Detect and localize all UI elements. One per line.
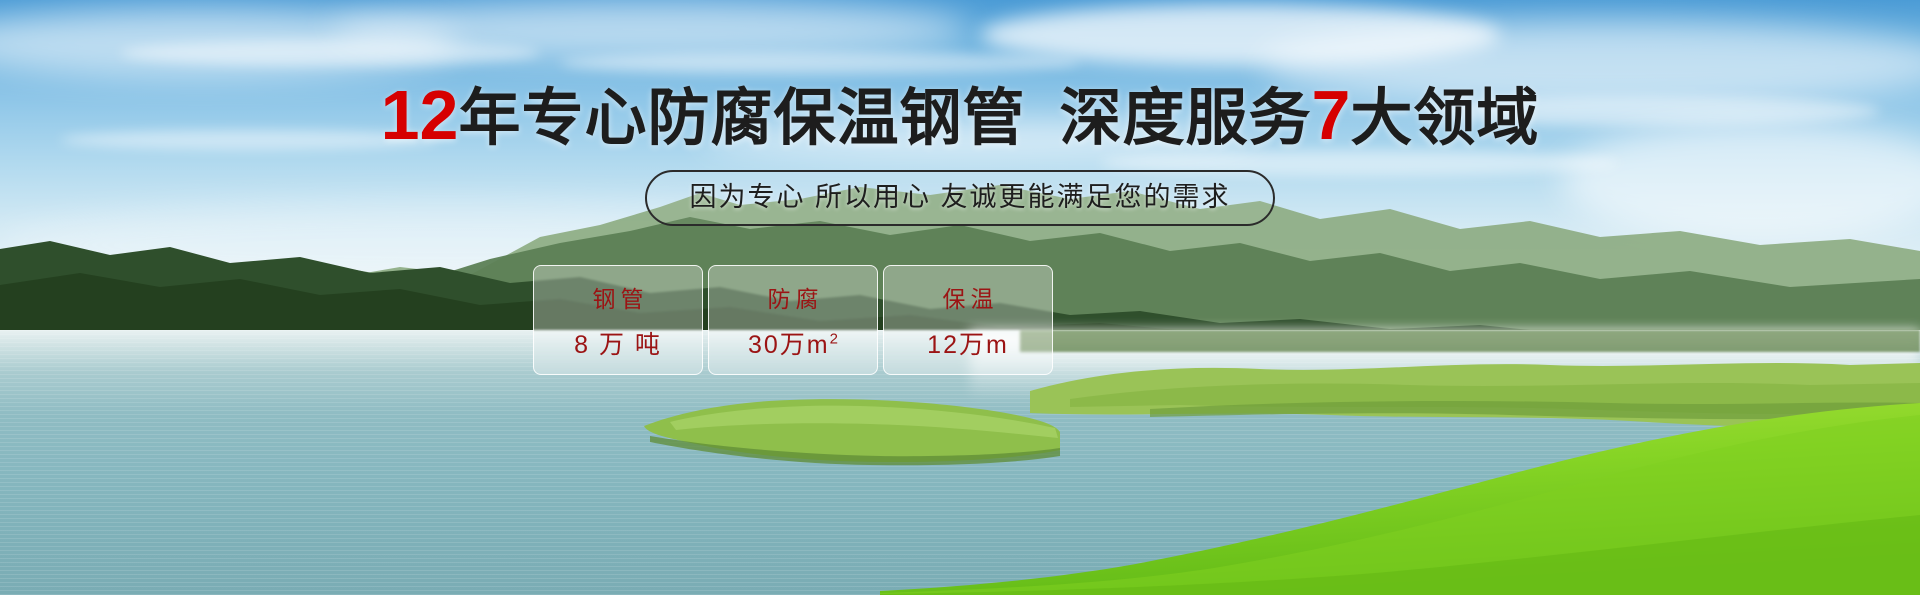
subtitle-pill: 因为专心 所以用心 友诚更能满足您的需求	[645, 170, 1274, 226]
headline-part-three: 大领域	[1350, 84, 1539, 153]
headline-part-one: 年专心防腐保温钢管	[458, 84, 1025, 153]
stat-card-insulation: 保温 12万m	[883, 265, 1053, 375]
stat-card-value: 30万m2	[748, 325, 838, 361]
stat-card-value-superscript: 2	[830, 330, 838, 347]
grass-field-foreground	[880, 385, 1920, 595]
headline-years-number: 12	[381, 76, 459, 154]
headline-part-two: 深度服务	[1059, 84, 1311, 153]
stat-card-label: 保温	[938, 280, 999, 314]
stat-card-value-text: 30万m	[748, 331, 830, 359]
stat-card-value: 12万m	[927, 325, 1009, 361]
stat-card-label: 钢管	[588, 280, 649, 314]
stat-card-group: 钢管 8 万 吨 防腐 30万m2 保温 12万m	[533, 265, 1053, 375]
stat-card-value: 8 万 吨	[574, 325, 662, 361]
promo-banner: 12年专心防腐保温钢管深度服务7大领域 因为专心 所以用心 友诚更能满足您的需求…	[0, 0, 1920, 595]
stat-card-steel-pipe: 钢管 8 万 吨	[533, 265, 703, 375]
stat-card-anticorrosion: 防腐 30万m2	[708, 265, 878, 375]
headline-domains-number: 7	[1311, 76, 1350, 154]
stat-card-label: 防腐	[763, 280, 824, 314]
headline: 12年专心防腐保温钢管深度服务7大领域	[0, 82, 1920, 152]
subtitle-container: 因为专心 所以用心 友诚更能满足您的需求	[0, 170, 1920, 226]
